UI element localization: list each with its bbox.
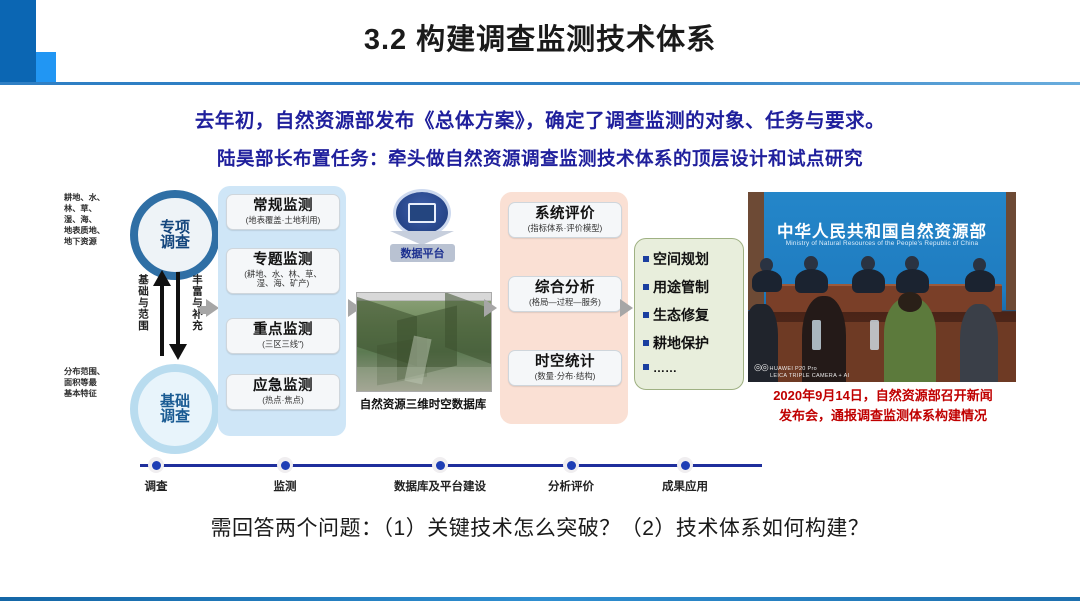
photo-banner-en: Ministry of Natural Resources of the Peo… xyxy=(748,240,1016,247)
card-title: 综合分析 xyxy=(509,277,621,297)
photo-caption-line-2: 发布会，通报调查监测体系构建情况 xyxy=(738,406,1028,426)
photo-watermark: ◎◎ HUAWEI P20 Pro LEICA TRIPLE CAMERA + … xyxy=(754,364,849,379)
platform-label: 数据平台 xyxy=(390,244,455,262)
press-conference-photo: 中华人民共和国自然资源部 Ministry of Natural Resourc… xyxy=(748,192,1016,382)
timeline-dot[interactable] xyxy=(677,457,693,473)
card-title: 专题监测 xyxy=(227,249,339,269)
card-subtitle: (三区三线") xyxy=(227,339,339,354)
card-subtitle: (格局—过程—服务) xyxy=(509,297,621,312)
bullet-icon xyxy=(643,256,649,262)
application-item[interactable]: 生态修复 xyxy=(643,305,709,325)
application-label: 用途管制 xyxy=(653,279,709,295)
basic-survey-label-1: 基础 xyxy=(160,394,190,409)
application-label: …… xyxy=(653,361,677,375)
photo-banner-cn: 中华人民共和国自然资源部 xyxy=(748,218,1016,242)
terrain-3d-image xyxy=(356,292,492,392)
basic-survey-label-2: 调查 xyxy=(160,409,190,424)
card-subtitle: (地表覆盖·土地利用) xyxy=(227,215,339,230)
timeline-label: 成果应用 xyxy=(662,478,708,494)
analysis-card[interactable]: 综合分析 (格局—过程—服务) xyxy=(508,276,622,312)
card-title: 重点监测 xyxy=(227,319,339,339)
bullet-icon xyxy=(643,340,649,346)
analysis-card[interactable]: 系统评价 (指标体系·评价模型) xyxy=(508,202,622,238)
subtitle-line-1: 去年初，自然资源部发布《总体方案》，确定了调查监测的对象、任务与要求。 xyxy=(0,104,1080,133)
card-title: 常规监测 xyxy=(227,195,339,215)
footer-divider xyxy=(0,597,1080,601)
timeline-dot[interactable] xyxy=(148,457,164,473)
watermark-line-2: LEICA TRIPLE CAMERA + AI xyxy=(770,373,849,379)
arrow-down-icon xyxy=(169,342,187,360)
monitor-icon xyxy=(396,192,448,234)
monitoring-card[interactable]: 常规监测 (地表覆盖·土地利用) xyxy=(226,194,340,230)
analysis-panel: 系统评价 (指标体系·评价模型) 综合分析 (格局—过程—服务) 时空统计 (数… xyxy=(500,192,628,424)
card-title: 系统评价 xyxy=(509,203,621,223)
monitoring-panel: 常规监测 (地表覆盖·土地利用) 专题监测 (耕地、水、林、草、 湿、海、矿产)… xyxy=(218,186,346,436)
monitor-screen xyxy=(408,203,436,223)
timeline-dot[interactable] xyxy=(432,457,448,473)
application-item[interactable]: 空间规划 xyxy=(643,249,709,269)
process-diagram: 耕地、水、 林、草、 湿、海、 地表质地、 地下资源 分布范围、 面积等最 基本… xyxy=(0,186,1080,454)
bullet-icon xyxy=(643,284,649,290)
photo-caption: 2020年9月14日，自然资源部召开新闻 发布会，通报调查监测体系构建情况 xyxy=(738,386,1028,426)
database-caption: 自然资源三维时空数据库 xyxy=(340,396,506,412)
bottom-question: 需回答两个问题：（1）关键技术怎么突破？（2）技术体系如何构建？ xyxy=(0,512,1080,542)
flow-arrow-4 xyxy=(620,299,633,317)
bullet-icon xyxy=(643,364,649,370)
timeline-label: 调查 xyxy=(145,478,168,494)
timeline-track xyxy=(140,464,762,467)
timeline-dot[interactable] xyxy=(563,457,579,473)
analysis-card[interactable]: 时空统计 (数量·分布·结构) xyxy=(508,350,622,386)
special-survey-node: 专项 调查 xyxy=(130,190,220,280)
application-item[interactable]: 耕地保护 xyxy=(643,333,709,353)
photo-caption-line-1: 2020年9月14日，自然资源部召开新闻 xyxy=(738,386,1028,406)
subtitle-line-2: 陆昊部长布置任务：牵头做自然资源调查监测技术体系的顶层设计和试点研究 xyxy=(0,145,1080,171)
bullet-icon xyxy=(643,312,649,318)
card-subtitle: (热点·焦点) xyxy=(227,395,339,410)
basic-survey-note: 分布范围、 面积等最 基本特征 xyxy=(64,366,126,399)
process-timeline: 调查 监测 数据库及平台建设 分析评价 成果应用 xyxy=(0,452,1080,502)
slide-root: 3.2 构建调查监测技术体系 去年初，自然资源部发布《总体方案》，确定了调查监测… xyxy=(0,0,1080,607)
special-survey-label-1: 专项 xyxy=(160,220,190,235)
arrow-down-label: 丰富与补充 xyxy=(190,274,205,332)
page-title: 3.2 构建调查监测技术体系 xyxy=(0,16,1080,58)
arrow-up-icon xyxy=(153,270,171,288)
leica-logo-icon: ◎◎ xyxy=(754,362,768,372)
terrain-toolbar xyxy=(357,293,491,301)
applications-panel: 空间规划 用途管制 生态修复 耕地保护 …… xyxy=(634,238,744,390)
timeline-label: 数据库及平台建设 xyxy=(394,478,486,494)
timeline-dot[interactable] xyxy=(277,457,293,473)
special-survey-label-2: 调查 xyxy=(160,235,190,250)
card-subtitle: (耕地、水、林、草、 湿、海、矿产) xyxy=(227,269,339,293)
application-label: 空间规划 xyxy=(653,251,709,267)
application-item[interactable]: 用途管制 xyxy=(643,277,709,297)
monitoring-card[interactable]: 重点监测 (三区三线") xyxy=(226,318,340,354)
header-divider xyxy=(0,82,1080,85)
special-survey-note: 耕地、水、 林、草、 湿、海、 地表质地、 地下资源 xyxy=(64,192,126,247)
arrow-down-shaft xyxy=(176,272,180,344)
application-label: 生态修复 xyxy=(653,307,709,323)
card-subtitle: (指标体系·评价模型) xyxy=(509,223,621,238)
monitoring-card[interactable]: 专题监测 (耕地、水、林、草、 湿、海、矿产) xyxy=(226,248,340,294)
application-label: 耕地保护 xyxy=(653,335,709,351)
card-title: 时空统计 xyxy=(509,351,621,371)
arrow-up-label: 基础与范围 xyxy=(136,274,151,332)
card-subtitle: (数量·分布·结构) xyxy=(509,371,621,386)
timeline-label: 分析评价 xyxy=(548,478,594,494)
watermark-line-1: HUAWEI P20 Pro xyxy=(770,366,817,372)
basic-survey-node: 基础 调查 xyxy=(130,364,220,454)
application-item: …… xyxy=(643,361,677,375)
monitoring-card[interactable]: 应急监测 (热点·焦点) xyxy=(226,374,340,410)
platform-beam xyxy=(390,231,454,245)
timeline-label: 监测 xyxy=(274,478,297,494)
arrow-up-shaft xyxy=(160,284,164,356)
flow-arrow-3 xyxy=(484,299,497,317)
card-title: 应急监测 xyxy=(227,375,339,395)
